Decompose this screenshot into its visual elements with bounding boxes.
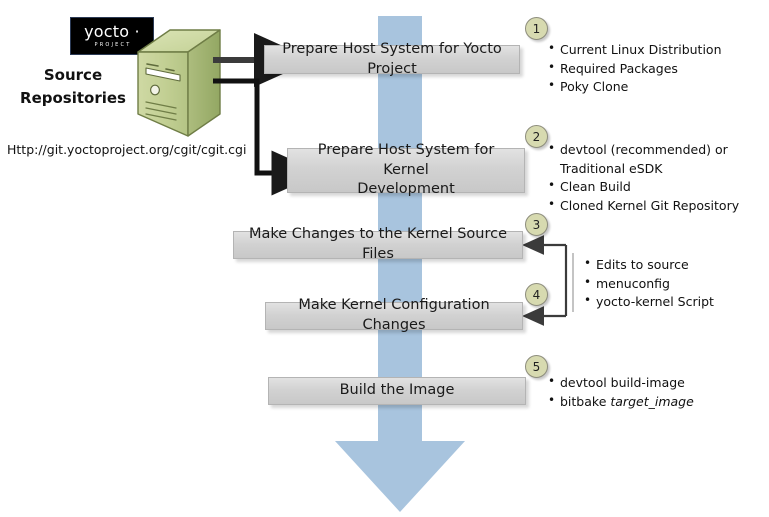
source-repositories-label: Source Repositories xyxy=(8,64,138,111)
process-box-step-2-line-2: Development xyxy=(357,180,455,200)
bullet-text: Edits to source xyxy=(596,257,689,272)
list-item: Poky Clone xyxy=(547,78,722,97)
bullet-text: devtool build-image xyxy=(560,375,685,390)
list-item: yocto-kernel Script xyxy=(583,293,714,312)
list-item: devtool (recommended) or Traditional eSD… xyxy=(547,141,739,178)
bullet-text-emphasis: target_image xyxy=(610,394,693,409)
step-badge-2: 2 xyxy=(525,125,548,148)
process-box-step-1-line-1: Prepare Host System for Yocto Project xyxy=(273,40,511,79)
step-badge-4: 4 xyxy=(525,283,548,306)
process-box-step-3-line-1: Make Changes to the Kernel Source Files xyxy=(242,225,514,264)
logo-subtext: PROJECT xyxy=(92,43,131,48)
step-badge-4-number: 4 xyxy=(533,288,541,302)
source-repositories-label-line1: Source xyxy=(8,64,138,87)
step-badge-1: 1 xyxy=(525,17,548,40)
bullet-text: Poky Clone xyxy=(560,79,628,94)
bullet-text: Required Packages xyxy=(560,61,678,76)
bullet-list-step-1: Current Linux Distribution Required Pack… xyxy=(547,41,722,97)
list-item: devtool build-image xyxy=(547,374,694,393)
process-box-step-5[interactable]: Build the Image xyxy=(268,377,526,405)
logo-wordmark: yocto · xyxy=(84,24,140,40)
list-item: Cloned Kernel Git Repository xyxy=(547,197,739,216)
bullet-text: menuconfig xyxy=(596,276,670,291)
diagram-canvas: yocto · PROJECT Source Repositories Http… xyxy=(0,0,769,517)
bullet-text: Clean Build xyxy=(560,179,631,194)
bullet-list-step-5: devtool build-image bitbake target_image xyxy=(547,374,694,411)
bullet-text-continuation: Traditional eSDK xyxy=(560,160,739,179)
server-icon xyxy=(136,28,222,138)
step-badge-3-number: 3 xyxy=(533,218,541,232)
process-box-step-3[interactable]: Make Changes to the Kernel Source Files xyxy=(233,231,523,259)
process-box-step-1[interactable]: Prepare Host System for Yocto Project xyxy=(264,45,520,74)
bullet-list-steps-3-4: Edits to source menuconfig yocto-kernel … xyxy=(583,256,714,312)
process-box-step-4[interactable]: Make Kernel Configuration Changes xyxy=(265,302,523,330)
source-repositories-url: Http://git.yoctoproject.org/cgit/cgit.cg… xyxy=(7,142,246,157)
step-badge-5-number: 5 xyxy=(533,360,541,374)
step-badge-3: 3 xyxy=(525,213,548,236)
bullet-text: bitbake xyxy=(560,394,610,409)
bullet-text: Cloned Kernel Git Repository xyxy=(560,198,739,213)
list-item: Current Linux Distribution xyxy=(547,41,722,60)
bullet-list-step-2: devtool (recommended) or Traditional eSD… xyxy=(547,141,739,215)
source-repositories-label-line2: Repositories xyxy=(8,87,138,110)
process-box-step-2-line-1: Prepare Host System for Kernel xyxy=(296,141,516,180)
step-badge-2-number: 2 xyxy=(533,130,541,144)
list-item: bitbake target_image xyxy=(547,393,694,412)
list-item: menuconfig xyxy=(583,275,714,294)
bullet-text: yocto-kernel Script xyxy=(596,294,714,309)
process-box-step-2[interactable]: Prepare Host System for Kernel Developme… xyxy=(287,148,525,193)
list-item: Required Packages xyxy=(547,60,722,79)
bullet-text: Current Linux Distribution xyxy=(560,42,722,57)
step-badge-5: 5 xyxy=(525,355,548,378)
list-item: Edits to source xyxy=(583,256,714,275)
bullet-text: devtool (recommended) or xyxy=(560,142,728,157)
process-box-step-4-line-1: Make Kernel Configuration Changes xyxy=(274,296,514,335)
list-item: Clean Build xyxy=(547,178,739,197)
step-badge-1-number: 1 xyxy=(533,22,541,36)
process-box-step-5-line-1: Build the Image xyxy=(340,381,455,401)
